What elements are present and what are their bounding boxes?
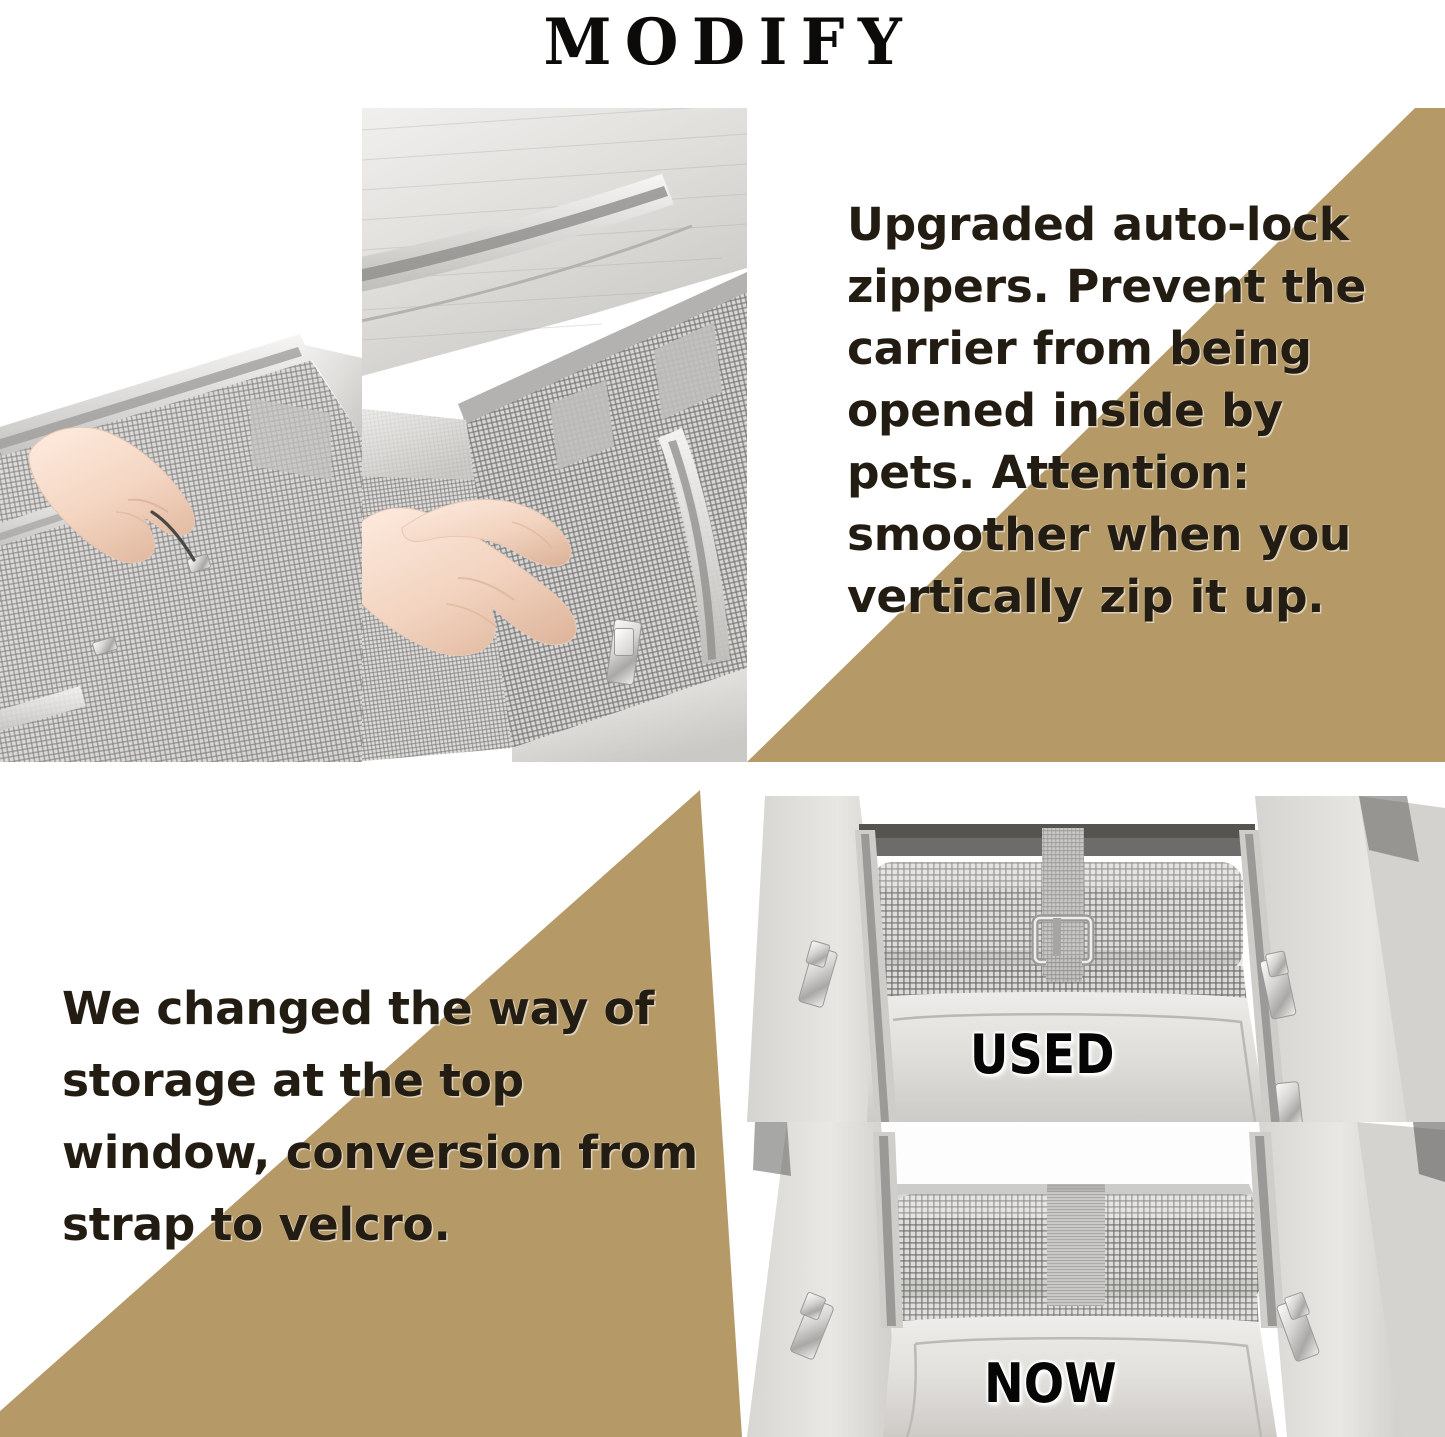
headline-panel-zippers: Upgraded auto-lock zippers. Prevent the … <box>747 108 1445 762</box>
headline-panel-storage: We changed the way of storage at the top… <box>0 790 742 1437</box>
photo-canvas-middle <box>362 108 747 762</box>
headline-text-wrapper-storage: We changed the way of storage at the top… <box>0 790 742 1437</box>
header-banner: MODIFY <box>0 0 1445 86</box>
photo-zipper-middle <box>362 108 747 762</box>
photo-canvas-used: USED <box>747 790 1445 1122</box>
headline-storage: We changed the way of storage at the top… <box>62 973 702 1261</box>
photo-zipper-left <box>0 108 362 762</box>
hand-illustration-left <box>0 108 362 762</box>
zipper-pull-lower-used <box>1275 1081 1304 1122</box>
photo-label-used: USED <box>970 1023 1115 1086</box>
hand-illustration-middle <box>362 108 747 762</box>
headline-text-wrapper-zippers: Upgraded auto-lock zippers. Prevent the … <box>747 108 1445 762</box>
infographic-page: MODIFY <box>0 0 1445 1437</box>
photo-storage-used: USED <box>747 790 1445 1122</box>
photo-canvas-now: NOW <box>747 1122 1445 1437</box>
headline-zippers: Upgraded auto-lock zippers. Prevent the … <box>847 194 1411 628</box>
photo-label-now: NOW <box>984 1352 1117 1415</box>
page-title: MODIFY <box>530 11 915 75</box>
photo-canvas-left <box>0 108 362 762</box>
photo-storage-now: NOW <box>747 1122 1445 1437</box>
